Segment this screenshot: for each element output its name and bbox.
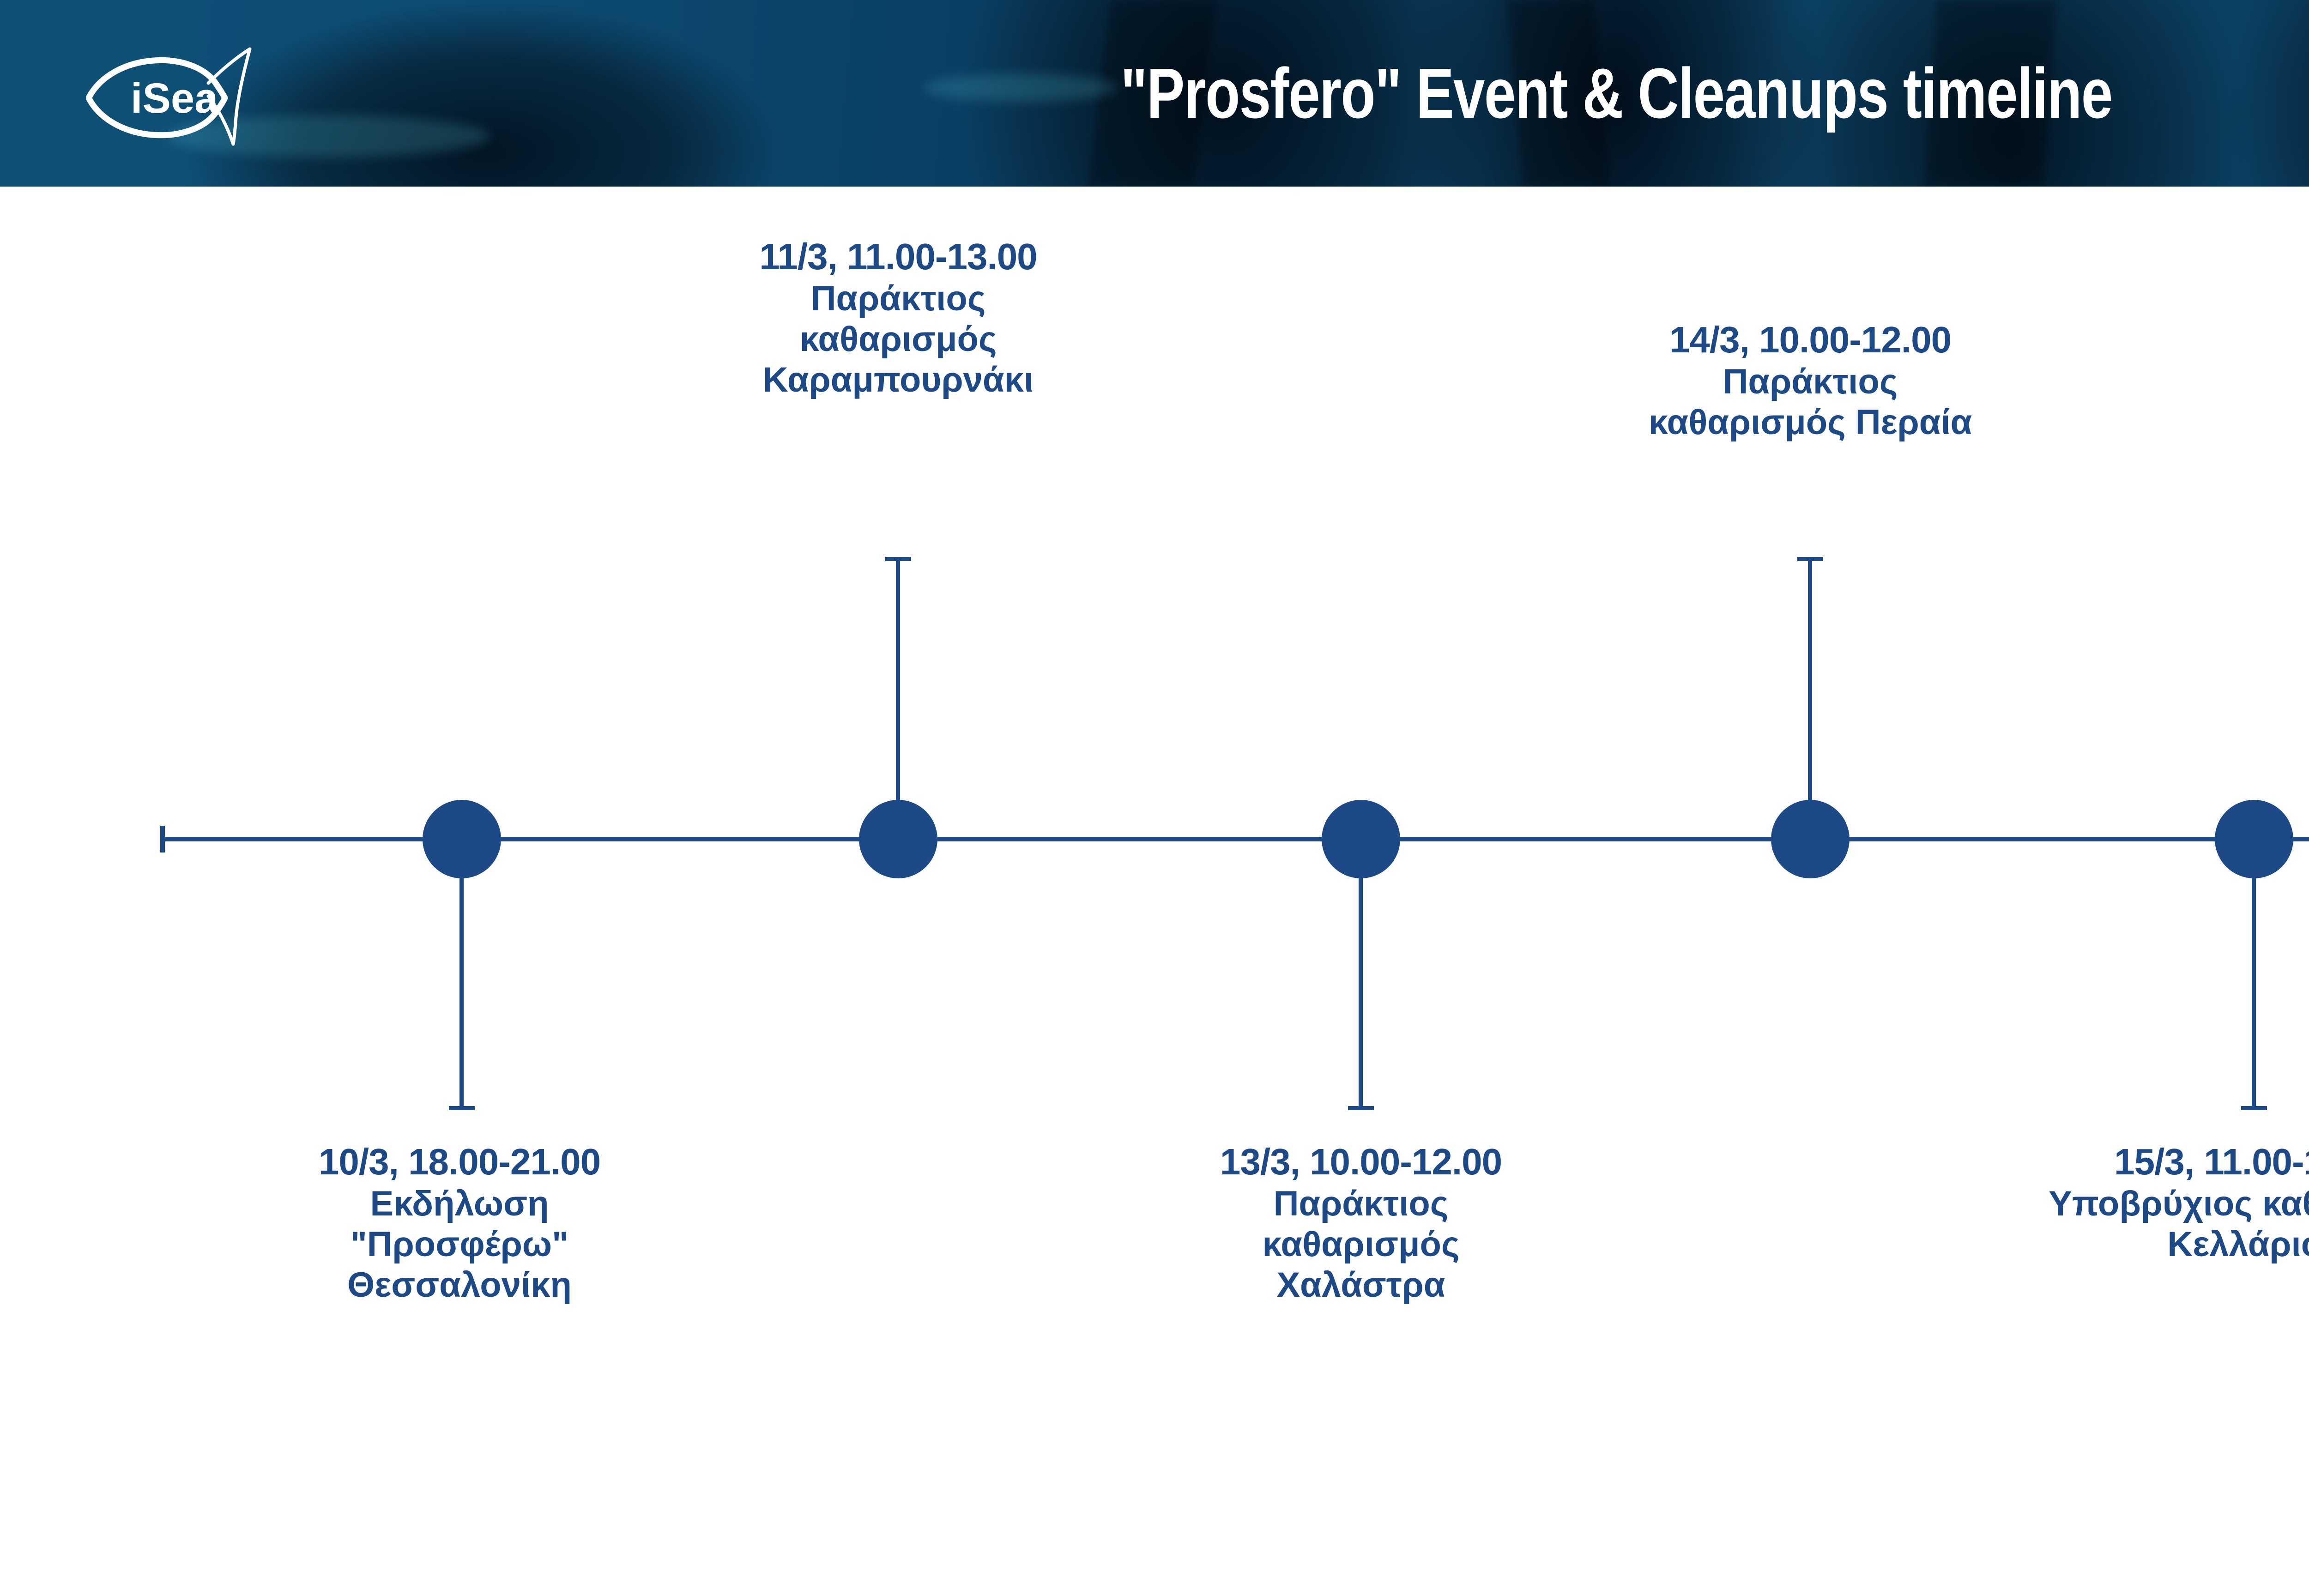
timeline-label-1: 10/3, 18.00-21.00 Εκδήλωση "Προσφέρω" Θε… [111,1141,808,1306]
timeline-stem-cap-5 [2241,1106,2267,1110]
timeline-stem-4 [1808,561,1812,802]
timeline-date-2: 11/3, 11.00-13.00 [550,236,1247,278]
timeline-dot-1[interactable] [423,800,501,878]
timeline-stem-5 [2252,873,2256,1108]
timeline-date-1: 10/3, 18.00-21.00 [111,1141,808,1184]
timeline-text-5-0: Υποβρύχιος καθαρισμός [1905,1184,2309,1224]
timeline-text-3-0: Παράκτιος [1012,1184,1710,1224]
timeline-axis-start-cap [160,826,165,852]
timeline-label-4: 14/3, 10.00-12.00 Παράκτιος καθαρισμός Π… [1462,319,2159,443]
isea-fish-logo: iSea [53,39,293,154]
timeline-date-4: 14/3, 10.00-12.00 [1462,319,2159,362]
timeline-dot-2[interactable] [859,800,937,878]
timeline-date-5: 15/3, 11.00-14.00 [1905,1141,2309,1184]
timeline-text-3-1: καθαρισμός [1012,1224,1710,1265]
svg-text:iSea: iSea [131,75,218,122]
timeline-text-4-0: Παράκτιος [1462,362,2159,402]
timeline-label-2: 11/3, 11.00-13.00 Παράκτιος καθαρισμός Κ… [550,236,1247,400]
timeline-text-5-1: Κελλάριος [1905,1224,2309,1265]
page-header: iSea "Prosfero" Event & Cleanups timelin… [0,0,2309,187]
timeline-stem-cap-1 [449,1106,475,1110]
timeline-text-1-0: Εκδήλωση [111,1184,808,1224]
timeline-dot-5[interactable] [2215,800,2293,878]
timeline-stem-3 [1359,873,1363,1108]
timeline-text-2-2: Καραμπουρνάκι [550,360,1247,400]
timeline-text-2-1: καθαρισμός [550,319,1247,360]
timeline-text-1-2: Θεσσαλονίκη [111,1265,808,1306]
timeline-stem-cap-3 [1348,1106,1374,1110]
timeline-dot-3[interactable] [1322,800,1400,878]
timeline-stem-cap-2 [885,557,911,561]
page-title: "Prosfero" Event & Cleanups timeline [951,36,2281,151]
timeline-text-1-1: "Προσφέρω" [111,1224,808,1265]
timeline-text-4-1: καθαρισμός Περαία [1462,402,2159,443]
timeline-stem-1 [459,873,464,1108]
timeline-stem-cap-4 [1797,557,1823,561]
timeline-stem-2 [896,561,900,802]
timeline-label-5: 15/3, 11.00-14.00 Υποβρύχιος καθαρισμός … [1905,1141,2309,1265]
timeline-dot-4[interactable] [1771,800,1850,878]
timeline-date-3: 13/3, 10.00-12.00 [1012,1141,1710,1184]
timeline-text-2-0: Παράκτιος [550,278,1247,319]
timeline-text-3-2: Χαλάστρα [1012,1265,1710,1306]
timeline-label-3: 13/3, 10.00-12.00 Παράκτιος καθαρισμός Χ… [1012,1141,1710,1306]
